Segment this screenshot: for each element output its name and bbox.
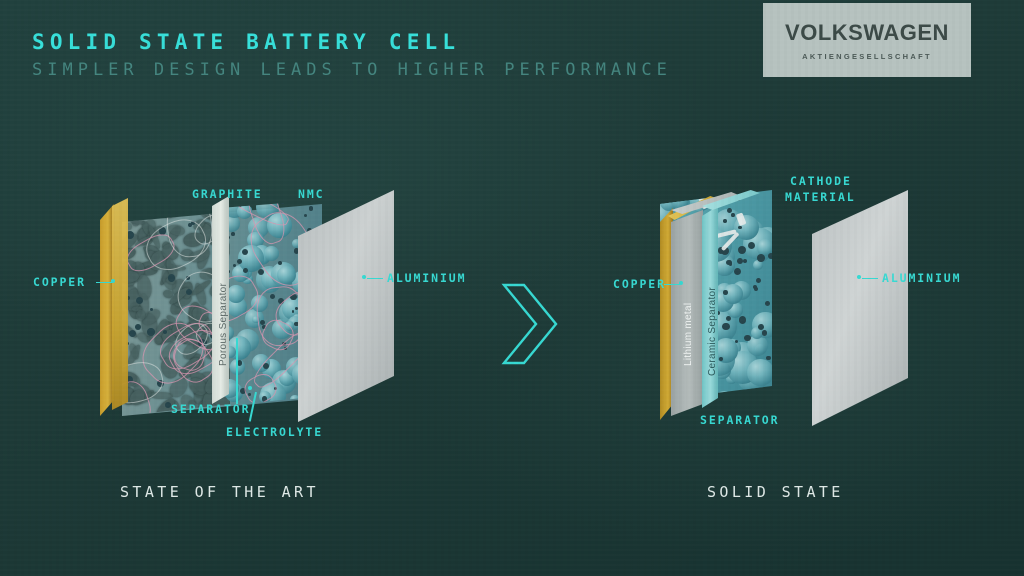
label-copper-left: COPPER [33,275,86,289]
leader-dot-copper-right [679,281,683,285]
lithium-metal-slab: Lithium metal [671,204,703,422]
leader-dot-electrolyte [248,386,252,390]
ceramic-separator-inline-label: Ceramic Separator [707,287,718,376]
page-subtitle: SIMPLER DESIGN LEADS TO HIGHER PERFORMAN… [32,60,672,80]
chevron-right-icon [496,281,568,367]
leader-copper-right [664,284,680,286]
label-aluminium-left: ALUMINIUM [387,271,466,285]
label-aluminium-right: ALUMINIUM [882,271,961,285]
label-cathode-material-line2: MATERIAL [785,190,856,204]
slide-canvas: SOLID STATE BATTERY CELL SIMPLER DESIGN … [0,0,1024,576]
volkswagen-logo: VOLKSWAGEN AKTIENGESELLSCHAFT [763,3,971,77]
label-electrolyte: ELECTROLYTE [226,425,323,439]
ceramic-separator-slab: Ceramic Separator [702,200,718,416]
label-nmc: NMC [298,187,324,201]
leader-dot-aluminium-right [857,275,861,279]
leader-copper-left [96,282,112,284]
solid-state-cell-diagram: Lithium metal Ceramic Separator [660,190,930,430]
logo-brand-text: VOLKSWAGEN [785,20,949,46]
leader-aluminium-left [367,278,383,280]
page-title: SOLID STATE BATTERY CELL [32,30,460,54]
leader-dot-copper-left [111,279,115,283]
leader-separator-left [236,338,238,404]
porous-separator-inline-label: Porous Separator [218,283,229,366]
aluminium-current-collector-plate-right [812,190,908,426]
label-copper-right: COPPER [613,277,666,291]
label-separator-left: SEPARATOR [171,402,250,416]
state-of-the-art-cell-diagram: Porous Separator [100,190,390,430]
logo-legal-form-text: AKTIENGESELLSCHAFT [802,52,932,61]
copper-current-collector-edge [100,204,114,418]
leader-aluminium-right [862,278,878,280]
lithium-metal-inline-label: Lithium metal [683,303,694,366]
caption-state-of-the-art: STATE OF THE ART [120,483,319,501]
label-graphite: GRAPHITE [192,187,263,201]
caption-solid-state: SOLID STATE [707,483,844,501]
label-cathode-material-line1: CATHODE [790,174,852,188]
leader-dot-aluminium-left [362,275,366,279]
copper-current-collector-plate [112,198,128,414]
label-separator-right: SEPARATOR [700,413,779,427]
porous-separator-slab: Porous Separator [212,196,229,410]
